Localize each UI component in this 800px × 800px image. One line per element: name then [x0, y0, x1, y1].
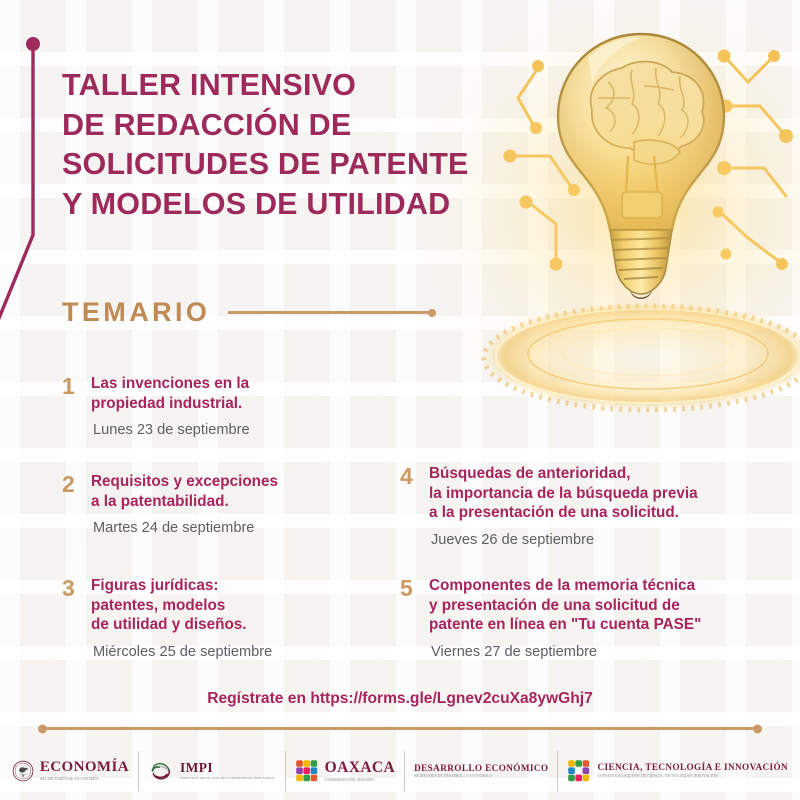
logo-name: OAXACA	[325, 760, 395, 776]
agenda-item-date: Martes 24 de septiembre	[91, 520, 278, 538]
agenda-item: 4 Búsquedas de anterioridad, la importan…	[400, 464, 698, 549]
agenda-item: 2 Requisitos y excepciones a la patentab…	[62, 472, 278, 538]
title-line-2: DE REDACCIÓN DE	[62, 106, 532, 146]
logo-economia: ECONOMÍA SECRETARÍA DE ECONOMÍA	[3, 751, 138, 791]
temario-rule-icon	[228, 311, 433, 314]
logo-desarrollo-economico: DESARROLLO ECONÓMICO SECRETARÍA DE DESAR…	[404, 751, 557, 791]
agenda-item-title: Las invenciones en la propiedad industri…	[91, 374, 250, 413]
logo-oaxaca: OAXACA GOBIERNO DEL ESTADO	[285, 751, 404, 791]
agenda-item-title: Figuras jurídicas: patentes, modelos de …	[91, 576, 272, 635]
agenda-item-number: 1	[62, 374, 79, 440]
poster-canvas: TALLER INTENSIVO DE REDACCIÓN DE SOLICIT…	[0, 0, 800, 800]
agenda-item-number: 5	[400, 576, 417, 661]
impi-swirl-icon	[148, 760, 174, 782]
logo-name: DESARROLLO ECONÓMICO	[414, 764, 548, 773]
logo-subtitle: CONSEJO OAXAQUEÑO DE CIENCIA, TECNOLOGÍA…	[597, 775, 788, 779]
agenda-item: 1 Las invenciones en la propiedad indust…	[62, 374, 250, 440]
title-line-4: Y MODELOS DE UTILIDAD	[62, 185, 532, 225]
section-heading-temario: TEMARIO	[62, 297, 433, 328]
registration-link[interactable]: Regístrate en https://forms.gle/Lgnev2cu…	[0, 690, 800, 708]
agenda-item-date: Miércoles 25 de septiembre	[91, 644, 272, 662]
agenda-item-number: 2	[62, 472, 79, 538]
agenda-item-date: Lunes 23 de septiembre	[91, 422, 250, 440]
logo-name: CIENCIA, TECNOLOGÍA E INNOVACIÓN	[597, 763, 788, 772]
logo-ciencia-tecnologia-innovacion: CIENCIA, TECNOLOGÍA E INNOVACIÓN CONSEJO…	[557, 751, 797, 791]
title-line-1: TALLER INTENSIVO	[62, 66, 532, 106]
agenda-item-title: Componentes de la memoria técnica y pres…	[429, 576, 701, 635]
agenda-item-number: 3	[62, 576, 79, 661]
logo-subtitle: SECRETARÍA DE DESARROLLO ECONÓMICO	[414, 775, 548, 779]
mexico-eagle-seal-icon	[12, 760, 34, 782]
agenda-item: 5 Componentes de la memoria técnica y pr…	[400, 576, 701, 661]
logo-subtitle: GOBIERNO DEL ESTADO	[325, 778, 395, 782]
temario-label: TEMARIO	[62, 297, 210, 328]
footer-logo-bar: ECONOMÍA SECRETARÍA DE ECONOMÍA IMPI INS…	[0, 748, 800, 794]
logo-subtitle: SECRETARÍA DE ECONOMÍA	[40, 777, 129, 782]
gold-divider	[42, 727, 758, 730]
agenda-item-title: Búsquedas de anterioridad, la importanci…	[429, 464, 698, 523]
logo-impi: IMPI INSTITUTO MEXICANO DE LA PROPIEDAD …	[138, 751, 285, 791]
logo-name: IMPI	[180, 761, 276, 775]
agenda-item-number: 4	[400, 464, 417, 549]
page-title: TALLER INTENSIVO DE REDACCIÓN DE SOLICIT…	[62, 66, 532, 225]
oaxaca-mosaic-icon	[295, 759, 319, 783]
agenda-item-date: Viernes 27 de septiembre	[429, 644, 701, 662]
logo-name: ECONOMÍA	[40, 760, 129, 775]
agenda-item-date: Jueves 26 de septiembre	[429, 532, 698, 550]
title-line-3: SOLICITUDES DE PATENTE	[62, 145, 532, 185]
logo-subtitle: INSTITUTO MEXICANO DE LA PROPIEDAD INDUS…	[180, 777, 276, 781]
agenda-item: 3 Figuras jurídicas: patentes, modelos d…	[62, 576, 272, 661]
coctin-mosaic-icon	[567, 759, 591, 783]
agenda-item-title: Requisitos y excepciones a la patentabil…	[91, 472, 278, 511]
